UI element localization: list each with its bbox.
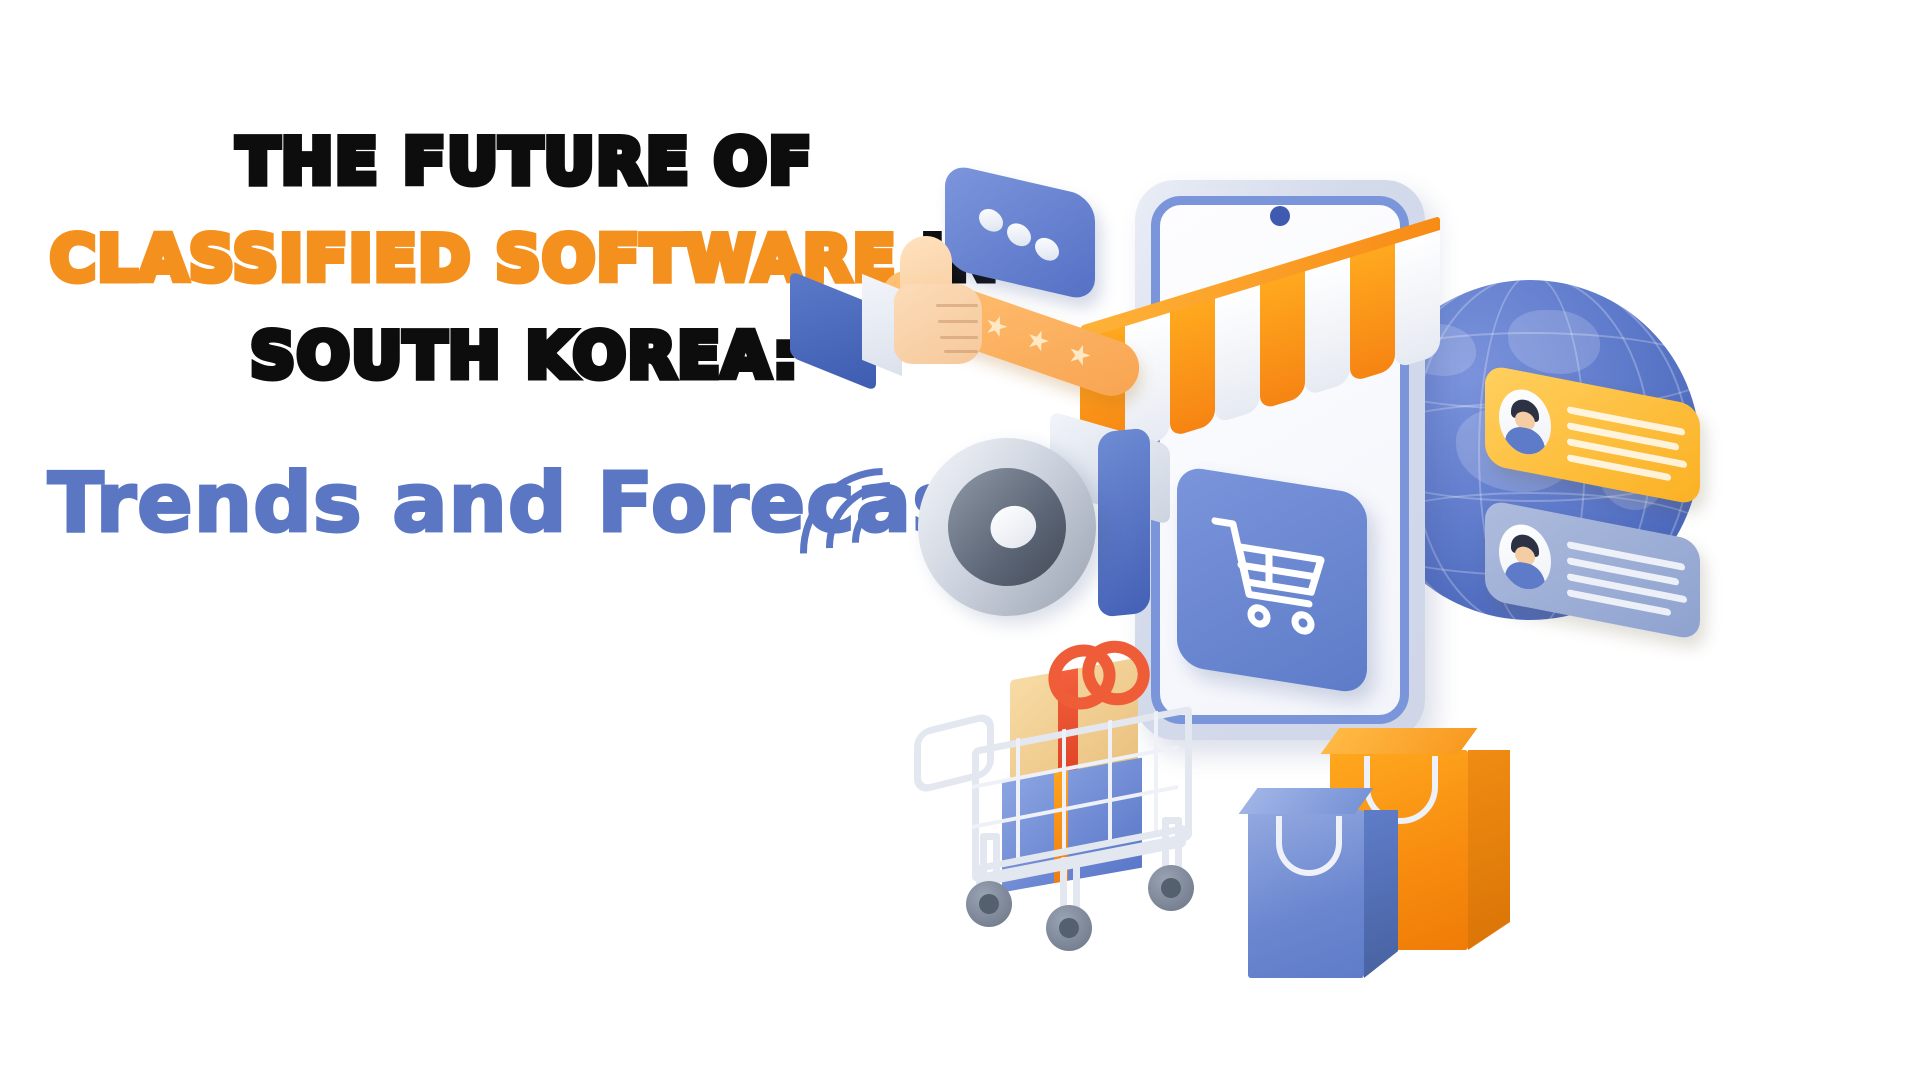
headline-line-1: THE FUTURE OF — [0, 130, 1050, 193]
thumbs-up-icon — [790, 240, 985, 380]
avatar — [1499, 520, 1551, 594]
avatar — [1499, 385, 1551, 459]
cart-wheel — [1148, 865, 1194, 911]
cart-wheel — [966, 881, 1012, 927]
shopping-cart-icon — [1177, 465, 1367, 695]
fist — [894, 284, 982, 364]
cart-glyph — [1211, 514, 1331, 643]
megaphone-handle — [1098, 427, 1150, 617]
illustration: ★ ★ ★ ★ ★ — [930, 120, 1920, 1080]
cart-wheel — [1046, 905, 1092, 951]
megaphone-icon — [900, 420, 1200, 650]
shopping-cart-trolley — [910, 675, 1240, 955]
shopping-bag-blue — [1248, 810, 1364, 978]
phone-camera-icon — [1270, 206, 1290, 226]
banner-canvas: THE FUTURE OF CLASSIFIED SOFTWARE IN SOU… — [0, 0, 1920, 1080]
headline-highlight: CLASSIFIED SOFTWARE — [50, 222, 897, 295]
